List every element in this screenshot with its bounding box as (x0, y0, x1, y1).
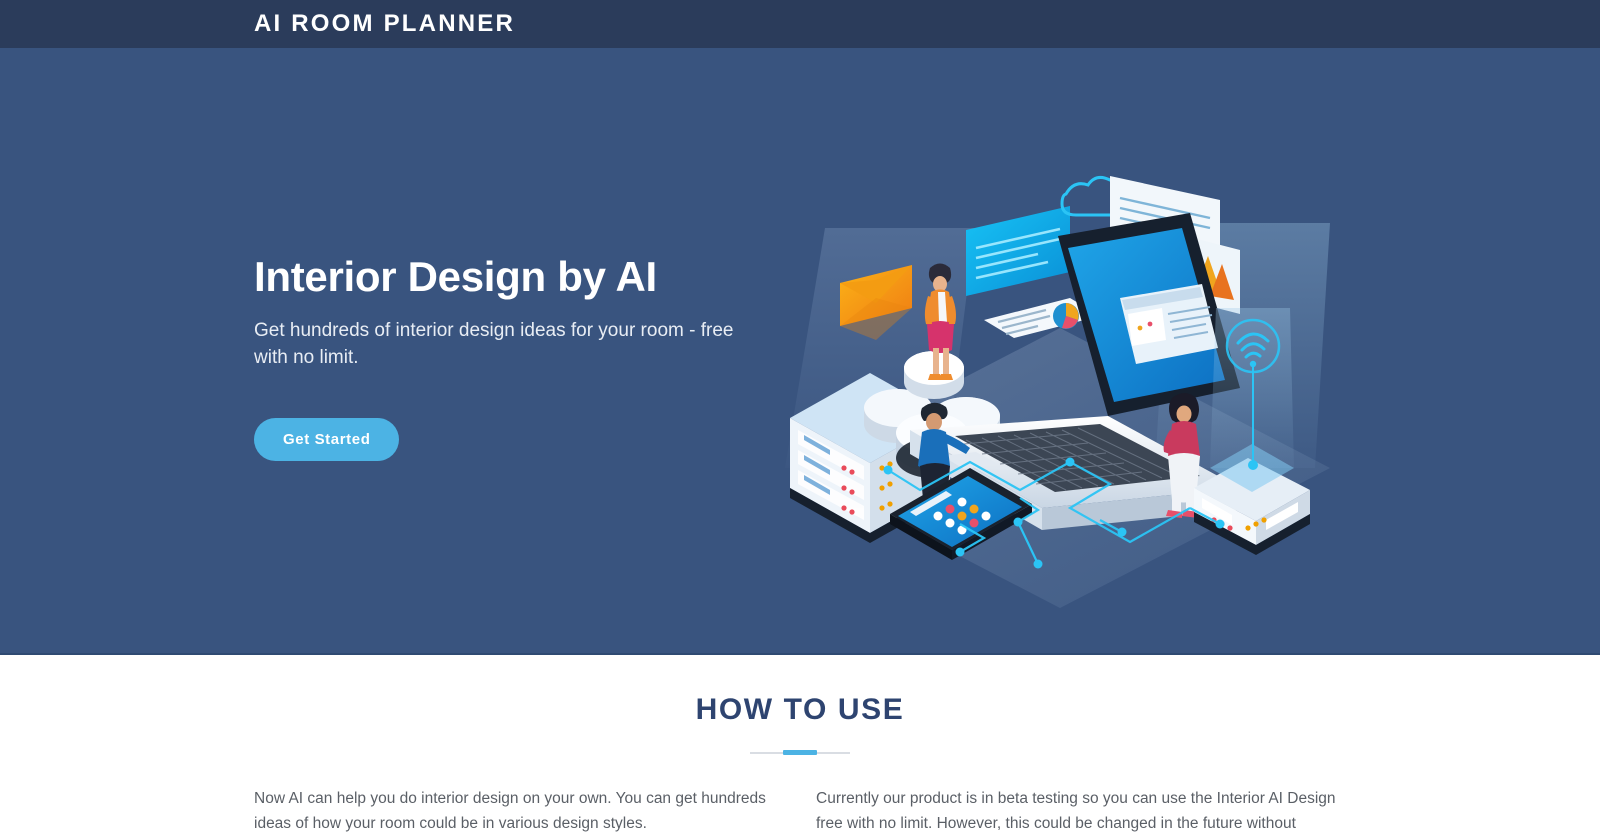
section-divider (750, 750, 850, 756)
hero-illustration (770, 168, 1350, 638)
hero-inner: Interior Design by AI Get hundreds of in… (0, 48, 1600, 653)
wifi-beam (1210, 308, 1294, 470)
how-to-use-section: HOW TO USE Now AI can help you do interi… (0, 655, 1600, 833)
how-to-use-title: HOW TO USE (0, 693, 1600, 727)
hero-copy: Interior Design by AI Get hundreds of in… (254, 253, 784, 461)
hero-subtitle: Get hundreds of interior design ideas fo… (254, 318, 764, 372)
how-to-use-columns: Now AI can help you do interior design o… (0, 756, 1600, 833)
how-to-use-column-left: Now AI can help you do interior design o… (254, 786, 784, 833)
hero-section: Interior Design by AI Get hundreds of in… (0, 48, 1600, 655)
divider-accent (783, 750, 817, 755)
hero-title: Interior Design by AI (254, 253, 784, 300)
cyan-text-panel-left (966, 206, 1070, 296)
brand-logo-text[interactable]: AI ROOM PLANNER (254, 12, 515, 36)
get-started-button[interactable]: Get Started (254, 418, 399, 461)
site-header: AI ROOM PLANNER (0, 0, 1600, 48)
how-to-use-column-right: Currently our product is in beta testing… (816, 786, 1346, 833)
